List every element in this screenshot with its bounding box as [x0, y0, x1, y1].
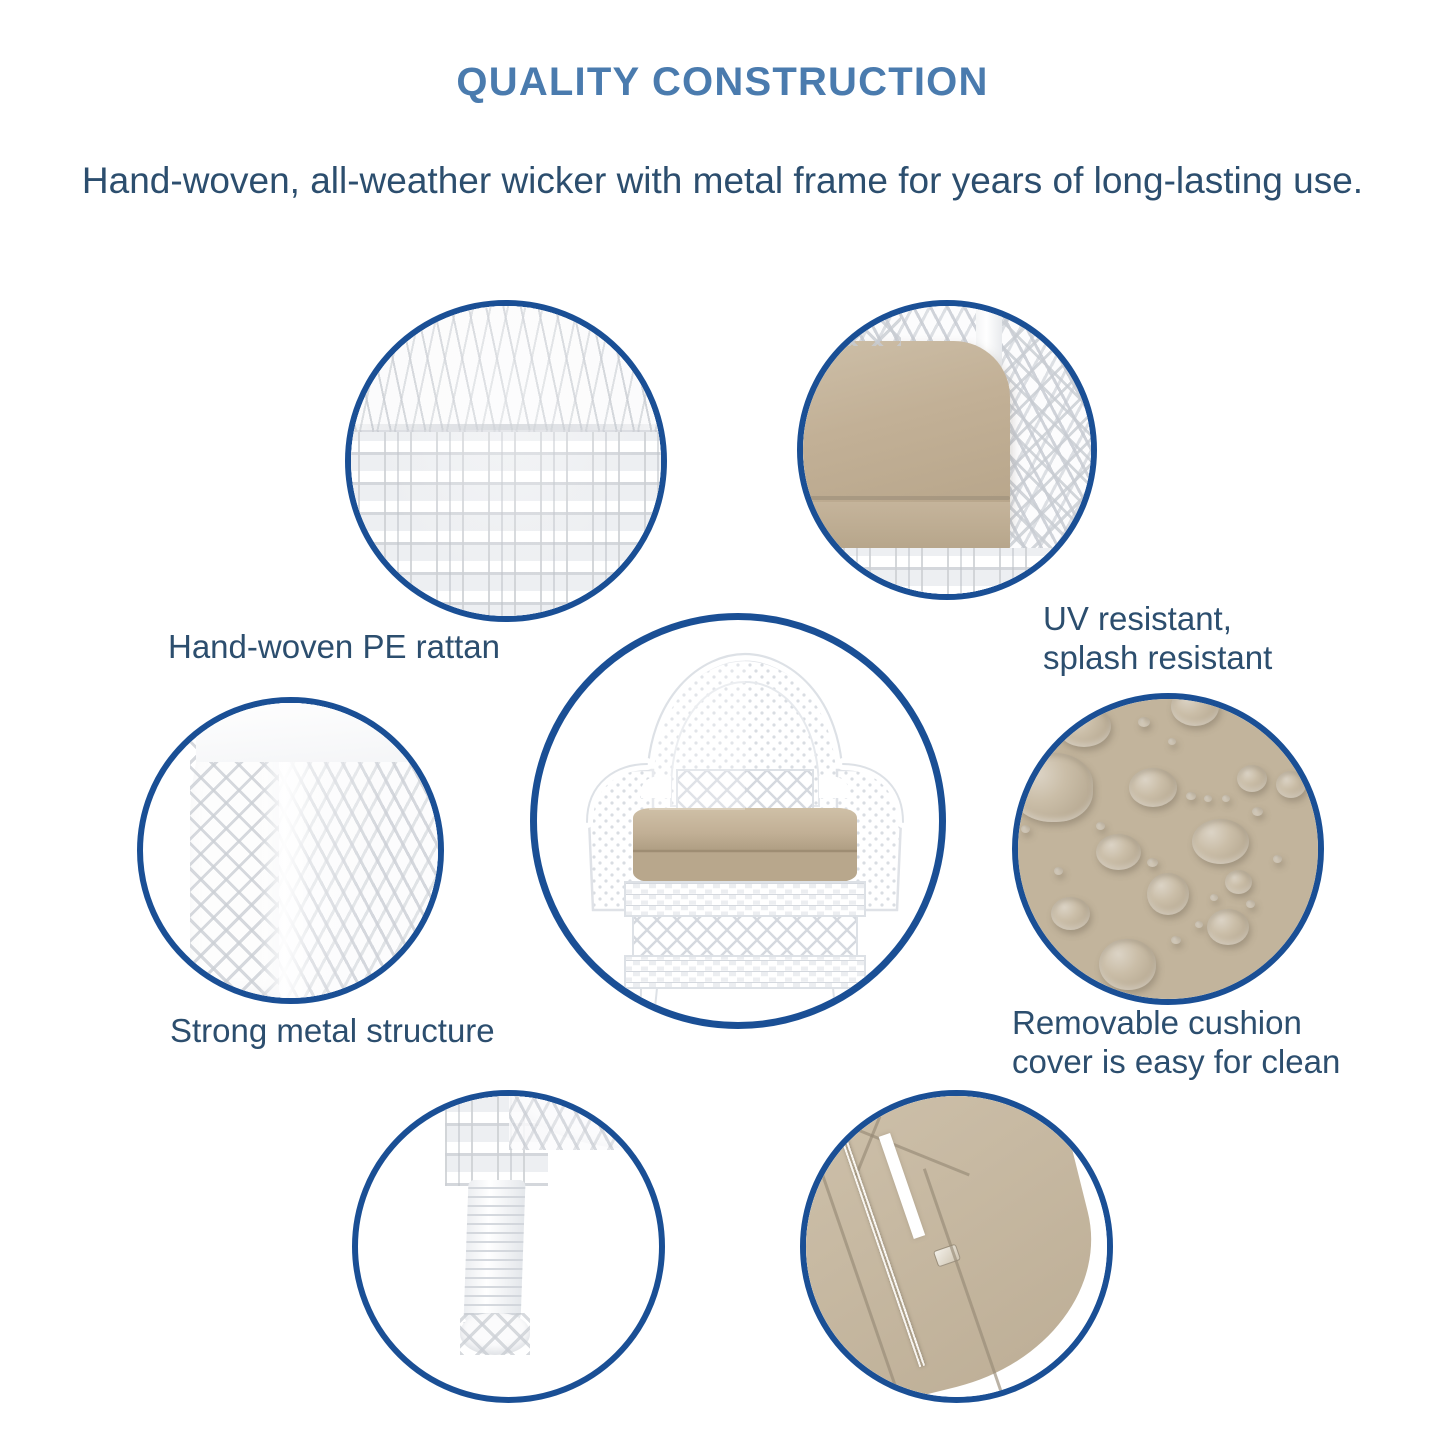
photo-armrest-corner [143, 703, 438, 998]
infographic-page: QUALITY CONSTRUCTION Hand-woven, all-wea… [0, 0, 1445, 1445]
feature-circle-cushion-zipper [800, 1090, 1113, 1403]
white-wicker-armchair-illustration [537, 620, 939, 1022]
photo-cushion-zipper [806, 1096, 1107, 1397]
photo-water-droplets [1018, 699, 1318, 999]
feature-circle-hand-woven-pe-rattan [345, 300, 667, 622]
photo-seat-cushion [803, 306, 1091, 594]
caption-uv-splash-resistant: UV resistant, splash resistant [1043, 600, 1272, 678]
photo-white-wicker-armchair [537, 620, 939, 1022]
feature-circle-strong-metal-structure [137, 697, 444, 1004]
page-subtitle: Hand-woven, all-weather wicker with meta… [0, 160, 1445, 202]
caption-hand-woven-pe-rattan: Hand-woven PE rattan [168, 628, 500, 667]
caption-strong-metal-structure: Strong metal structure [170, 1012, 495, 1051]
feature-circle-uv-splash-resistant [797, 300, 1097, 600]
page-title: QUALITY CONSTRUCTION [0, 60, 1445, 105]
feature-circle-full-chair [530, 613, 946, 1029]
feature-circle-removable-cushion-cover [1012, 693, 1324, 1005]
photo-chair-leg [358, 1096, 659, 1397]
caption-removable-cushion-cover: Removable cushion cover is easy for clea… [1012, 1004, 1340, 1082]
feature-circle-wicker-wrapped-leg [352, 1090, 665, 1403]
photo-hand-woven-pe-rattan [351, 306, 661, 616]
